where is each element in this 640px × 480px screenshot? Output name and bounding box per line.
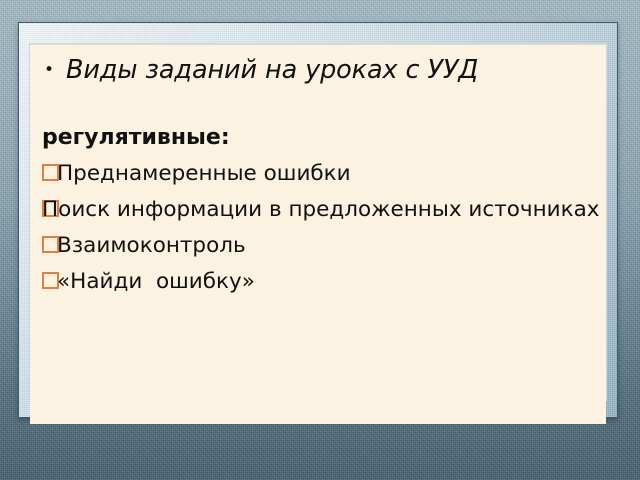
body-heading: регулятивные:: [42, 122, 602, 153]
title-row: • Виды заданий на уроках с УУД: [44, 50, 564, 91]
list-item-label: Поиск информации в предложенных источник…: [42, 193, 602, 226]
title-text: Виды заданий на уроках с УУД: [66, 50, 564, 91]
slide-title: • Виды заданий на уроках с УУД: [44, 50, 564, 91]
list-item-label: Взаимоконтроль: [61, 229, 602, 262]
list-item: Поиск информации в предложенных источник…: [42, 193, 602, 226]
slide: • Виды заданий на уроках с УУД регулятив…: [0, 0, 640, 480]
list-item: Взаимоконтроль: [42, 229, 602, 262]
list-item: «Найди ошибку»: [42, 265, 602, 298]
list-item-label: Преднамеренные ошибки: [61, 157, 602, 190]
title-bullet-icon: •: [44, 50, 66, 91]
list-item: Преднамеренные ошибки: [42, 157, 602, 190]
content-panel: • Виды заданий на уроках с УУД регулятив…: [30, 45, 606, 424]
body-content: регулятивные: Преднамеренные ошибки Поис…: [42, 122, 602, 301]
list-item-label: «Найди ошибку»: [61, 265, 602, 298]
